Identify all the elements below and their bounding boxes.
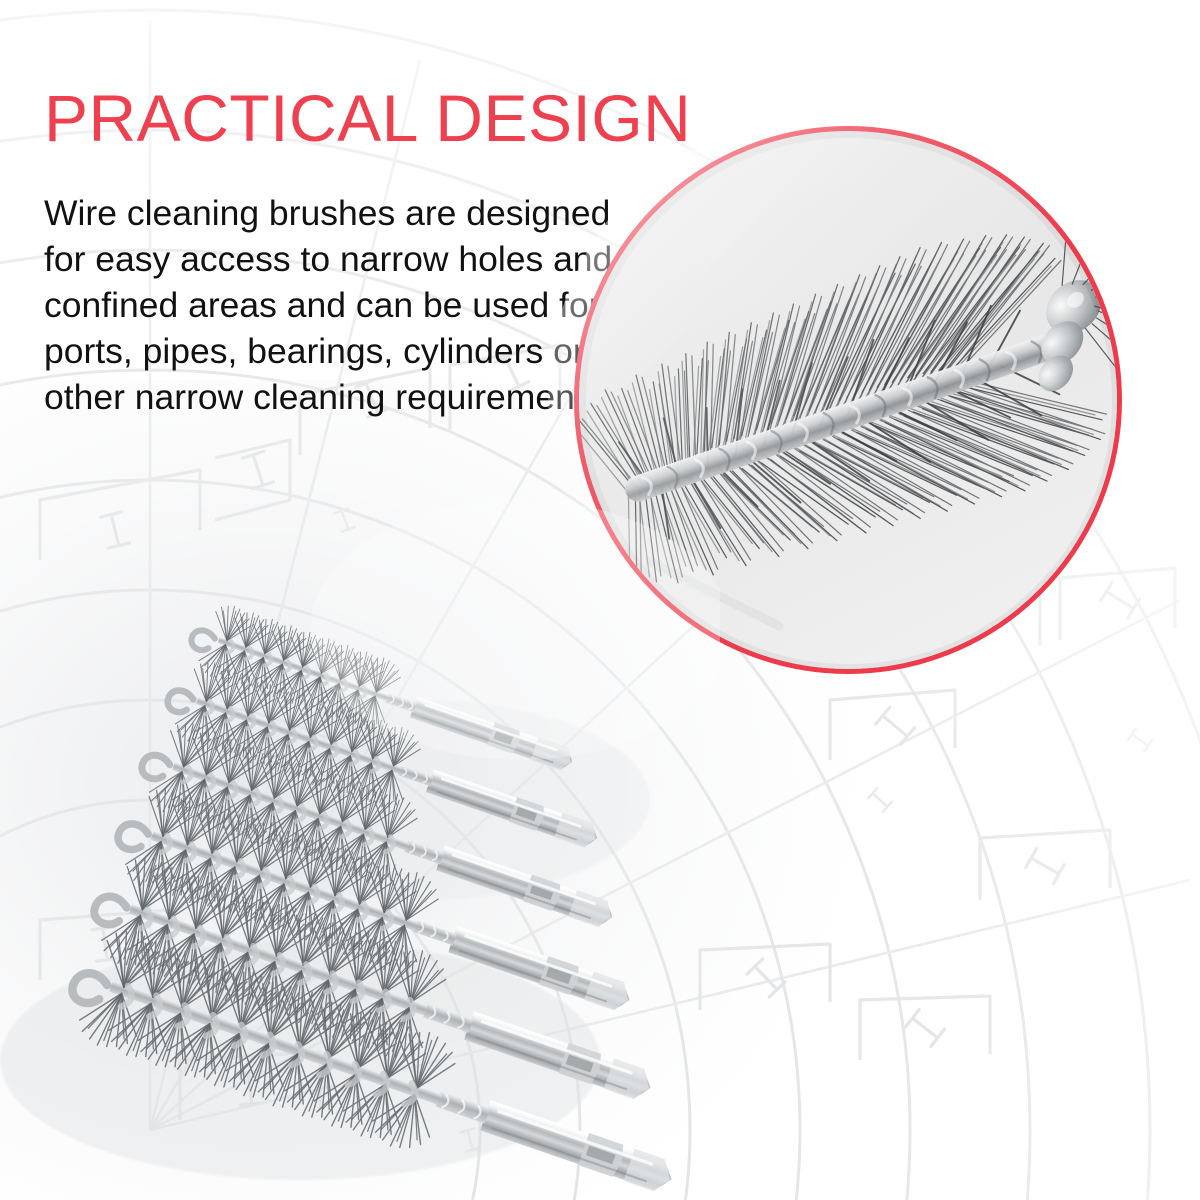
- product-marketing-image: PRACTICAL DESIGN Wire cleaning brushes a…: [0, 0, 1200, 1200]
- product-photo-brush-set: [0, 500, 720, 1200]
